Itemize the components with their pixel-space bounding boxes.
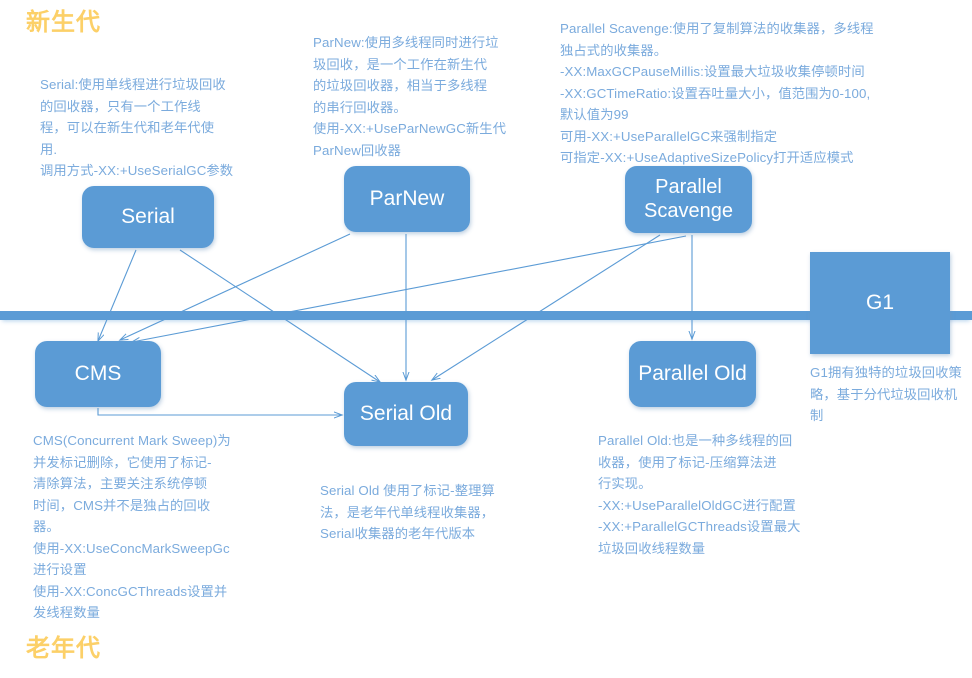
young-generation-label: 新生代 [26,2,101,37]
note-cms: CMS(Concurrent Mark Sweep)为 并发标记删除，它使用了标… [33,430,243,624]
connector-parnew-cms [120,234,350,340]
note-parallel-scavenge: Parallel Scavenge:使用了复制算法的收集器，多线程 独占式的收集… [560,18,960,169]
node-parnew[interactable]: ParNew [344,166,470,232]
node-parallel-old[interactable]: Parallel Old [629,341,756,407]
note-serial: Serial:使用单线程进行垃圾回收 的回收器，只有一个工作线 程，可以在新生代… [40,74,255,182]
node-parallel-scavenge[interactable]: Parallel Scavenge [625,166,752,233]
connector-serial-cms [98,250,136,341]
node-serial[interactable]: Serial [82,186,214,248]
node-cms[interactable]: CMS [35,341,161,407]
connector-cms-serialold [98,408,342,415]
note-g1: G1拥有独特的垃圾回收策 略，基于分代垃圾回收机 制 [810,362,972,427]
node-g1[interactable]: G1 [810,252,950,354]
note-parallel-old: Parallel Old:也是一种多线程的回 收器，使用了标记-压缩算法进 行实… [598,430,813,559]
old-generation-label: 老年代 [26,628,101,663]
note-parnew: ParNew:使用多线程同时进行垃 圾回收，是一个工作在新生代 的垃圾回收器，相… [313,32,525,161]
connector-psc-cms [132,236,686,342]
connector-psc-serialold [432,235,660,380]
node-serial-old[interactable]: Serial Old [344,382,468,446]
note-serial-old: Serial Old 使用了标记-整理算 法，是老年代单线程收集器， Seria… [320,480,525,545]
